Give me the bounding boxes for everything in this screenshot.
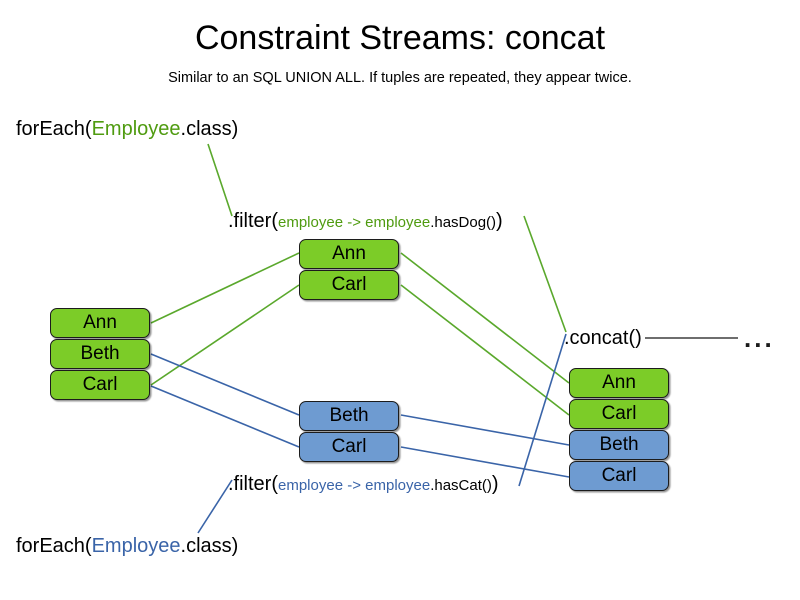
filter-top-suffix: ): [496, 210, 503, 232]
filter-top-arrow: ->: [343, 214, 365, 231]
for-each-top-prefix: forEach(: [16, 118, 92, 140]
for-each-top-suffix: .class): [181, 118, 239, 140]
for-each-top-type: Employee: [92, 118, 181, 140]
leader-line-foreach-top: [208, 144, 232, 216]
edge-source-beth-to-cat-beth: [151, 354, 299, 415]
edge-source-carl-to-cat-carl: [151, 386, 299, 447]
filter-bottom-suffix: ): [492, 473, 499, 495]
page-title: Constraint Streams: concat: [0, 18, 800, 58]
concat-label: .concat(): [564, 326, 642, 350]
ellipsis-continuation: ...: [744, 325, 775, 351]
node-source-ann: Ann: [50, 308, 150, 338]
diagram-canvas: Constraint Streams: concat Similar to an…: [0, 0, 800, 600]
for-each-bottom-type: Employee: [92, 535, 181, 557]
edge-dog-carl-to-result-carl: [401, 285, 569, 415]
leader-line-filter-top-to-concat: [524, 216, 566, 332]
node-cat-carl: Carl: [299, 432, 399, 462]
for-each-bottom-suffix: .class): [181, 535, 239, 557]
for-each-bottom-prefix: forEach(: [16, 535, 92, 557]
node-result-beth: Beth: [569, 430, 669, 460]
leader-line-foreach-bottom: [198, 480, 232, 533]
node-result-carl-dog: Carl: [569, 399, 669, 429]
filter-top-receiver: employee: [365, 214, 430, 231]
filter-bottom-receiver: employee: [365, 477, 430, 494]
edge-source-ann-to-dog-ann: [151, 253, 299, 323]
edge-source-carl-to-dog-carl: [151, 285, 299, 385]
filter-bottom-param: employee: [278, 477, 343, 494]
node-dog-carl: Carl: [299, 270, 399, 300]
page-subtitle: Similar to an SQL UNION ALL. If tuples a…: [0, 68, 800, 88]
node-cat-beth: Beth: [299, 401, 399, 431]
node-source-beth: Beth: [50, 339, 150, 369]
node-source-carl: Carl: [50, 370, 150, 400]
filter-top-label: .filter(employee -> employee.hasDog()): [228, 209, 503, 235]
filter-top-param: employee: [278, 214, 343, 231]
filter-bottom-prefix: .filter(: [228, 473, 278, 495]
node-result-carl-cat: Carl: [569, 461, 669, 491]
connector-edges: [0, 0, 800, 600]
for-each-bottom-label: forEach(Employee.class): [16, 534, 238, 558]
filter-bottom-arrow: ->: [343, 477, 365, 494]
edge-cat-beth-to-result-beth: [401, 415, 569, 445]
filter-bottom-label: .filter(employee -> employee.hasCat()): [228, 472, 499, 498]
node-result-ann: Ann: [569, 368, 669, 398]
node-dog-ann: Ann: [299, 239, 399, 269]
filter-top-prefix: .filter(: [228, 210, 278, 232]
leader-line-filter-bottom-to-concat: [519, 334, 566, 486]
filter-top-method: .hasDog(): [430, 214, 496, 231]
filter-bottom-method: .hasCat(): [430, 477, 492, 494]
for-each-top-label: forEach(Employee.class): [16, 117, 238, 141]
